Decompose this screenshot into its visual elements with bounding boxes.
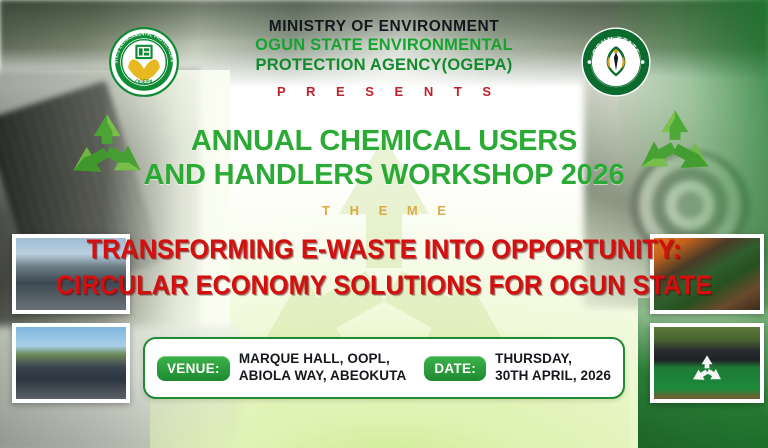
- date-line1: THURSDAY,: [495, 351, 572, 366]
- event-flyer: OGEPA OGUN STATE ENVIRONMENTAL PROTECTIO…: [0, 0, 768, 448]
- photo-card-recycle-bin: [650, 323, 764, 403]
- green-recycle-bin-image: [654, 327, 760, 399]
- presents-label: P R E S E N T S: [0, 84, 768, 99]
- venue-group: VENUE: MARQUE HALL, OOPL, ABIOLA WAY, AB…: [157, 351, 406, 385]
- flyer-header: MINISTRY OF ENVIRONMENT OGUN STATE ENVIR…: [0, 18, 768, 99]
- event-title-line2: AND HANDLERS WORKSHOP 2026: [0, 158, 768, 192]
- venue-value: MARQUE HALL, OOPL, ABIOLA WAY, ABEOKUTA: [239, 351, 407, 385]
- theme-label: T H E M E: [0, 203, 768, 218]
- venue-line2: ABIOLA WAY, ABEOKUTA: [239, 368, 407, 383]
- theme-line2: CIRCULAR ECONOMY SOLUTIONS FOR OGUN STAT…: [27, 268, 741, 304]
- venue-label: VENUE:: [157, 356, 230, 381]
- agency-title-line2: PROTECTION AGENCY(OGEPA): [0, 56, 768, 75]
- venue-date-bar: VENUE: MARQUE HALL, OOPL, ABIOLA WAY, AB…: [143, 337, 625, 399]
- event-title-line1: ANNUAL CHEMICAL USERS: [0, 124, 768, 158]
- date-group: DATE: THURSDAY, 30TH APRIL, 2026: [424, 351, 611, 385]
- theme-statement: TRANSFORMING E-WASTE INTO OPPORTUNITY: C…: [0, 232, 768, 303]
- e-waste-pile-field-image: [16, 327, 126, 399]
- date-line2: 30TH APRIL, 2026: [495, 368, 611, 383]
- agency-title-line1: OGUN STATE ENVIRONMENTAL: [0, 36, 768, 55]
- venue-line1: MARQUE HALL, OOPL,: [239, 351, 390, 366]
- date-value: THURSDAY, 30TH APRIL, 2026: [495, 351, 611, 385]
- date-label: DATE:: [424, 356, 486, 381]
- photo-card-ewaste-field: [12, 323, 130, 403]
- event-title: ANNUAL CHEMICAL USERS AND HANDLERS WORKS…: [0, 124, 768, 192]
- theme-line1: TRANSFORMING E-WASTE INTO OPPORTUNITY:: [27, 232, 741, 268]
- ministry-title: MINISTRY OF ENVIRONMENT: [0, 18, 768, 35]
- recycle-symbol-icon: [690, 352, 724, 386]
